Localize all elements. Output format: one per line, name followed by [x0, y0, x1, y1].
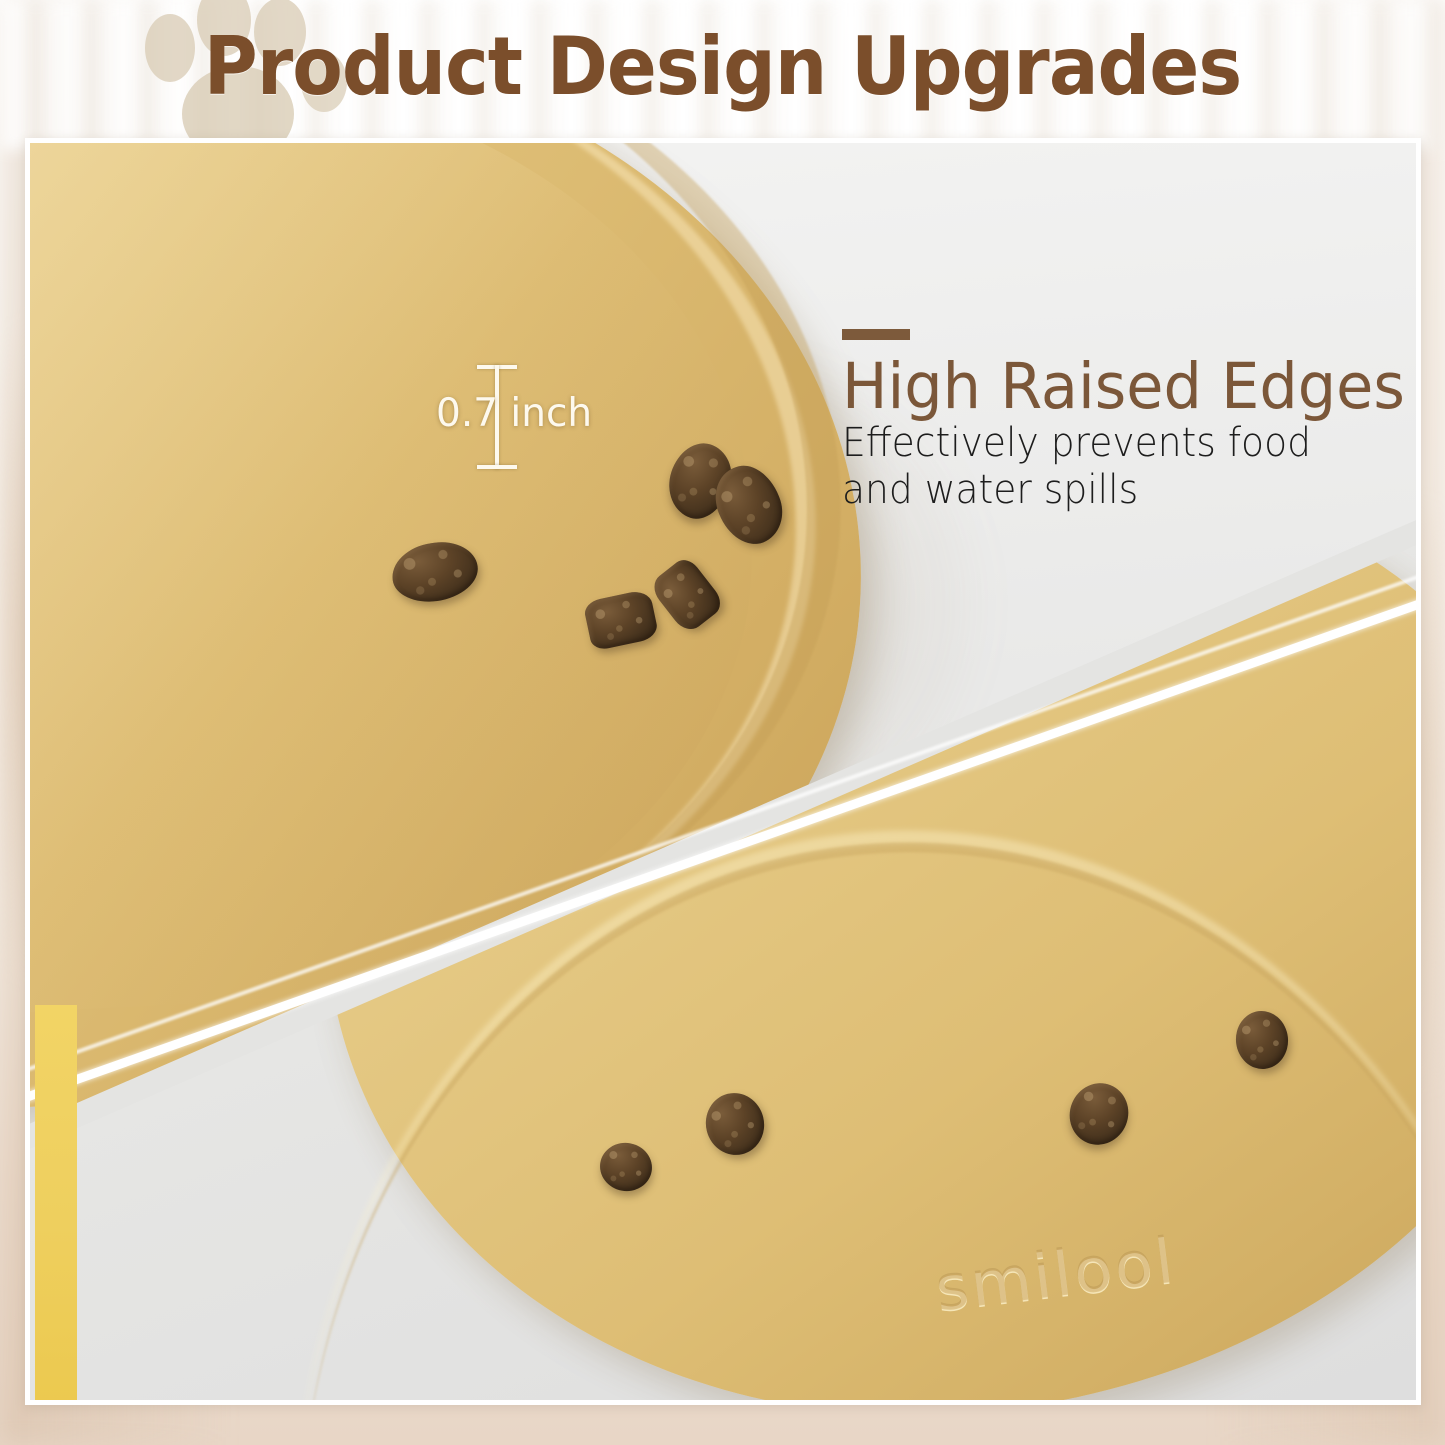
- feature-subtitle-line2: and water spills: [842, 467, 1393, 514]
- page-title: Product Design Upgrades: [58, 20, 1387, 113]
- product-photo-frame: smilool 0.7 inch High: [25, 138, 1421, 1405]
- feature-title: High Raised Edges: [842, 354, 1405, 420]
- product-infographic: Product Design Upgrades: [0, 0, 1445, 1445]
- yellow-accent-bar: [35, 1005, 77, 1400]
- product-photo: smilool 0.7 inch High: [30, 143, 1416, 1400]
- measure-cap-bottom: [477, 465, 517, 469]
- measure-label: 0.7 inch: [436, 391, 592, 436]
- accent-bar-icon: [842, 329, 910, 340]
- feature-block-high-raised-edges: High Raised Edges Effectively prevents f…: [842, 329, 1416, 515]
- feature-subtitle-line1: Effectively prevents food: [842, 420, 1393, 467]
